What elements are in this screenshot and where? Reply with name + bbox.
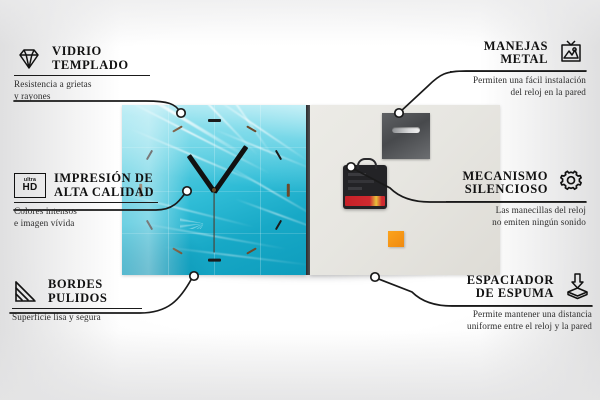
- callout-manejas-metal[interactable]: MANEJAS METAL Permiten una fácil instala…: [450, 38, 586, 98]
- callout-title-line1: BORDES: [48, 278, 107, 292]
- mechanism-detail: [348, 187, 362, 190]
- clock-mechanism-box: [343, 165, 387, 209]
- mechanism-detail: [348, 180, 374, 183]
- metal-hanger-plate: [382, 113, 430, 159]
- callout-rule: [440, 305, 592, 306]
- picture-hanger-icon: [556, 38, 586, 68]
- callout-heading: ultra HD IMPRESIÓN DE ALTA CALIDAD: [14, 172, 158, 199]
- callout-impresion-alta-calidad[interactable]: ultra HD IMPRESIÓN DE ALTA CALIDAD Color…: [14, 172, 158, 229]
- callout-vidrio-templado[interactable]: VIDRIO TEMPLADO Resistencia a grietas y …: [14, 45, 150, 102]
- callout-title-line2: METAL: [484, 53, 548, 67]
- product-image: [122, 105, 502, 277]
- callout-subtitle-line2: no emiten ningún sonido: [446, 217, 586, 228]
- callout-subtitle-line1: Permiten una fácil instalación: [450, 75, 586, 86]
- glass-seam: [260, 105, 261, 275]
- callout-heading: VIDRIO TEMPLADO: [14, 45, 150, 72]
- callout-subtitle-line2: del reloj en la pared: [450, 87, 586, 98]
- background-bottom-shade: [0, 330, 600, 400]
- foam-spacer-pad: [388, 231, 404, 247]
- callout-title-line2: SILENCIOSO: [462, 183, 548, 197]
- callout-rule: [12, 308, 142, 309]
- mechanism-detail: [348, 173, 366, 176]
- foam-spacer-icon: [562, 272, 592, 302]
- callout-mecanismo-silencioso[interactable]: MECANISMO SILENCIOSO Las manecillas del …: [446, 168, 586, 228]
- callout-subtitle-line1: Colores intensos: [14, 206, 158, 217]
- callout-heading: BORDES PULIDOS: [12, 278, 140, 305]
- hanger-slot: [392, 127, 420, 133]
- infographic-canvas: VIDRIO TEMPLADO Resistencia a grietas y …: [0, 0, 600, 400]
- ultra-hd-icon: ultra HD: [14, 173, 46, 198]
- callout-subtitle-line2: y rayones: [14, 91, 150, 102]
- callout-title-line2: DE ESPUMA: [467, 287, 554, 301]
- callout-subtitle-line1: Las manecillas del reloj: [446, 205, 586, 216]
- callout-espaciador-de-espuma[interactable]: ESPACIADOR DE ESPUMA Permite mantener un…: [440, 272, 592, 332]
- clock-tick: [208, 119, 221, 122]
- callout-title-line1: VIDRIO: [52, 45, 129, 59]
- callout-title-line2: PULIDOS: [48, 292, 107, 306]
- callout-title-line2: ALTA CALIDAD: [54, 186, 154, 200]
- callout-subtitle-line2: e imagen vívida: [14, 218, 158, 229]
- callout-heading: MECANISMO SILENCIOSO: [446, 168, 586, 198]
- polished-edges-icon: [12, 279, 40, 305]
- callout-rule: [14, 202, 158, 203]
- callout-bordes-pulidos[interactable]: BORDES PULIDOS Superficie lisa y segura: [12, 278, 140, 324]
- callout-title-line1: ESPACIADOR: [467, 274, 554, 288]
- mechanism-label-band: [345, 196, 385, 206]
- callout-subtitle-line1: Resistencia a grietas: [14, 79, 150, 90]
- mechanism-hook: [357, 158, 377, 169]
- callout-subtitle-line1: Permite mantener una distancia: [440, 309, 592, 320]
- clock-tick: [287, 184, 290, 197]
- callout-rule: [450, 71, 586, 72]
- callout-heading: MANEJAS METAL: [450, 38, 586, 68]
- gear-icon: [556, 168, 586, 198]
- callout-rule: [14, 75, 150, 76]
- callout-title-line1: MECANISMO: [462, 170, 548, 184]
- callout-heading: ESPACIADOR DE ESPUMA: [440, 272, 592, 302]
- callout-title-line1: MANEJAS: [484, 40, 548, 54]
- callout-subtitle-line1: Superficie lisa y segura: [12, 312, 140, 323]
- callout-subtitle-line2: uniforme entre el reloj y la pared: [440, 321, 592, 332]
- ultra-hd-icon-large-label: HD: [22, 183, 37, 193]
- callout-title-line1: IMPRESIÓN DE: [54, 172, 154, 186]
- diamond-icon: [14, 47, 44, 71]
- callout-rule: [446, 201, 586, 202]
- callout-title-line2: TEMPLADO: [52, 59, 129, 73]
